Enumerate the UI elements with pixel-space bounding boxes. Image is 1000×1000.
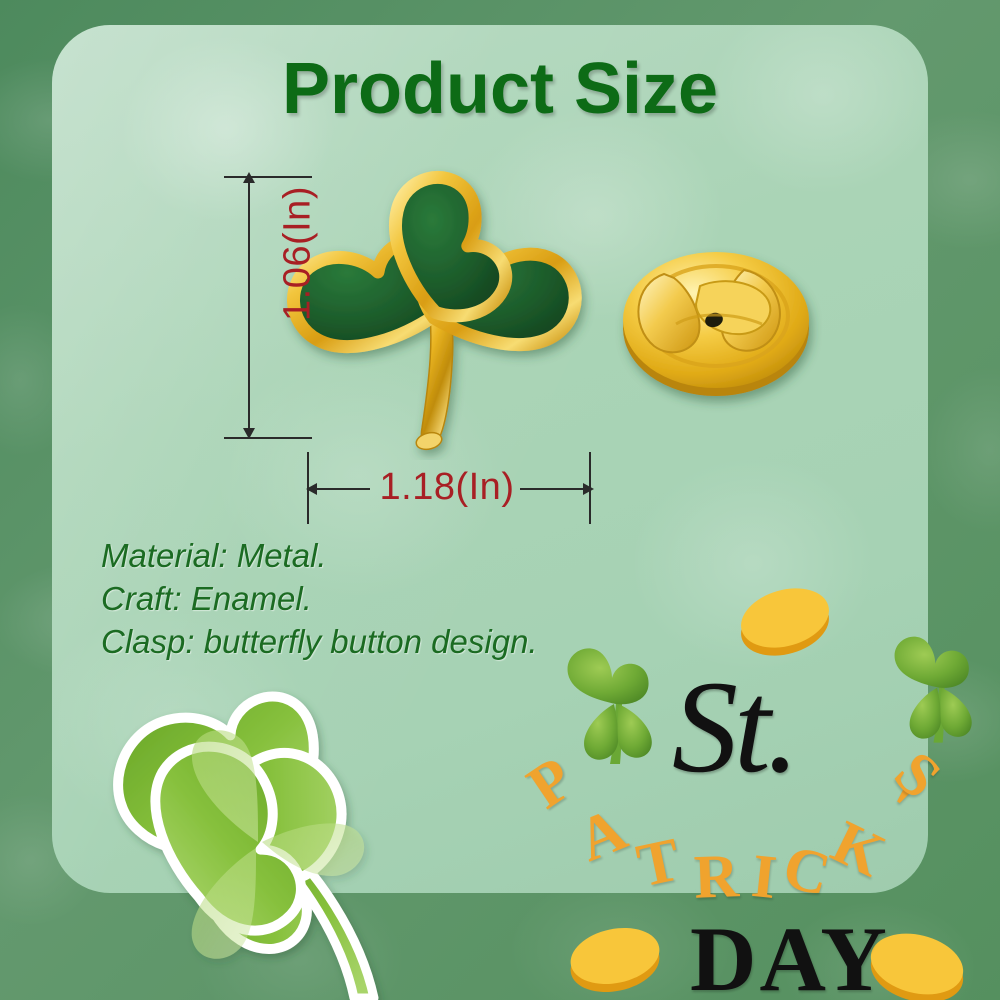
height-dimension-label: 1.06(In) [277, 174, 320, 334]
logo-day-text: DAY [690, 906, 890, 1000]
product-size-infographic: Product Size [0, 0, 1000, 1000]
logo-letter: T [631, 824, 686, 902]
height-arrow-up-icon [243, 172, 255, 183]
spec-material: Material: Metal. [101, 534, 538, 577]
width-arrow-left-icon [306, 483, 317, 495]
height-arrow-down-icon [243, 428, 255, 439]
logo-letter: I [748, 841, 779, 914]
spec-clasp: Clasp: butterfly button design. [101, 620, 538, 663]
spec-craft: Craft: Enamel. [101, 577, 538, 620]
page-title: Product Size [0, 48, 1000, 130]
specifications-list: Material: Metal. Craft: Enamel. Clasp: b… [101, 534, 538, 663]
four-leaf-clover [92, 672, 432, 1000]
height-dimension-line [248, 178, 250, 438]
logo-letter: R [693, 841, 740, 914]
height-extension-line-bottom [224, 437, 312, 439]
logo-patricks-arc: P A T R I C K ' S [528, 690, 968, 910]
logo-letter: A [568, 794, 636, 877]
gold-coin-icon [560, 918, 670, 1000]
width-dimension-label: 1.18(In) [362, 466, 532, 509]
shamrock-enamel-pin [278, 160, 608, 460]
butterfly-clutch-clasp [612, 228, 822, 413]
width-arrow-right-icon [583, 483, 594, 495]
